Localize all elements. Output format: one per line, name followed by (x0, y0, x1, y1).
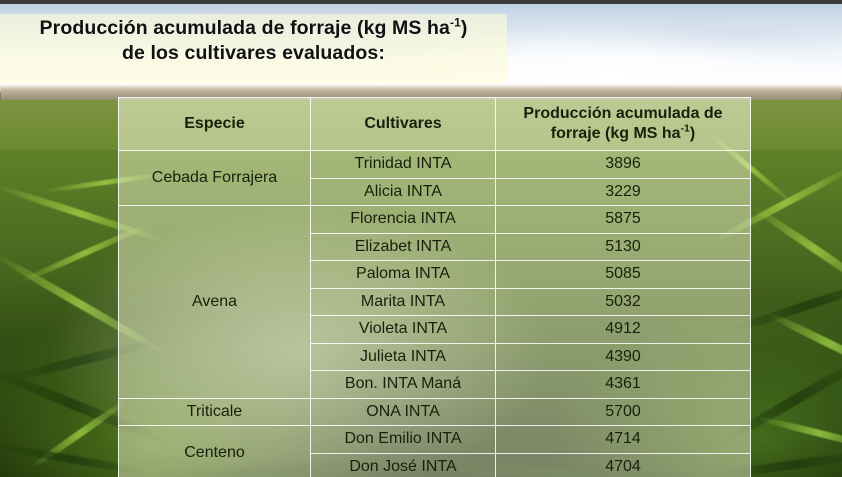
title-superscript: -1 (450, 16, 461, 30)
forage-production-table: Especie Cultivares Producción acumulada … (118, 97, 751, 477)
cell-cultivar: Paloma INTA (311, 261, 496, 289)
cell-production-value: 5130 (496, 233, 751, 261)
cell-production-value: 5700 (496, 398, 751, 426)
cell-production-value: 5875 (496, 206, 751, 234)
produccion-header-line-2: forraje (kg MS ha (551, 125, 681, 142)
column-header-produccion: Producción acumulada de forraje (kg MS h… (496, 98, 751, 151)
cell-species: Avena (119, 206, 311, 399)
table-header: Especie Cultivares Producción acumulada … (119, 98, 751, 151)
title-line-2: de los cultivares evaluados: (122, 42, 385, 64)
cell-cultivar: Don José INTA (311, 453, 496, 477)
cell-production-value: 5085 (496, 261, 751, 289)
cell-production-value: 3896 (496, 151, 751, 179)
cell-cultivar: Florencia INTA (311, 206, 496, 234)
cell-cultivar: Marita INTA (311, 288, 496, 316)
cell-species: Triticale (119, 398, 311, 426)
cell-species: Centeno (119, 426, 311, 477)
cell-cultivar: ONA INTA (311, 398, 496, 426)
cell-cultivar: Trinidad INTA (311, 151, 496, 179)
column-header-especie: Especie (119, 98, 311, 151)
cell-production-value: 4390 (496, 343, 751, 371)
produccion-header-line-1: Producción acumulada de (523, 105, 722, 122)
cell-production-value: 5032 (496, 288, 751, 316)
produccion-header-line-2-end: ) (690, 125, 695, 142)
table-row: CentenoDon Emilio INTA4714 (119, 426, 751, 454)
cell-cultivar: Julieta INTA (311, 343, 496, 371)
cell-production-value: 4714 (496, 426, 751, 454)
cell-cultivar: Elizabet INTA (311, 233, 496, 261)
title-line-1-end: ) (461, 17, 468, 39)
table-row: Cebada ForrajeraTrinidad INTA3896 (119, 151, 751, 179)
cell-cultivar: Bon. INTA Maná (311, 371, 496, 399)
title-line-1: Producción acumulada de forraje (kg MS h… (40, 17, 450, 39)
cell-production-value: 4361 (496, 371, 751, 399)
cell-production-value: 4912 (496, 316, 751, 344)
produccion-header-superscript: -1 (681, 123, 690, 135)
cell-cultivar: Don Emilio INTA (311, 426, 496, 454)
table-row: AvenaFlorencia INTA5875 (119, 206, 751, 234)
top-edge-bar (0, 0, 842, 4)
forage-production-table-wrapper: Especie Cultivares Producción acumulada … (118, 97, 750, 468)
table-header-row: Especie Cultivares Producción acumulada … (119, 98, 751, 151)
cell-production-value: 4704 (496, 453, 751, 477)
cell-cultivar: Violeta INTA (311, 316, 496, 344)
column-header-cultivares: Cultivares (311, 98, 496, 151)
cell-production-value: 3229 (496, 178, 751, 206)
page-title: Producción acumulada de forraje (kg MS h… (0, 16, 507, 66)
cell-cultivar: Alicia INTA (311, 178, 496, 206)
table-row: TriticaleONA INTA5700 (119, 398, 751, 426)
cell-species: Cebada Forrajera (119, 151, 311, 206)
slide: Producción acumulada de forraje (kg MS h… (0, 0, 842, 477)
table-body: Cebada ForrajeraTrinidad INTA3896Alicia … (119, 151, 751, 477)
